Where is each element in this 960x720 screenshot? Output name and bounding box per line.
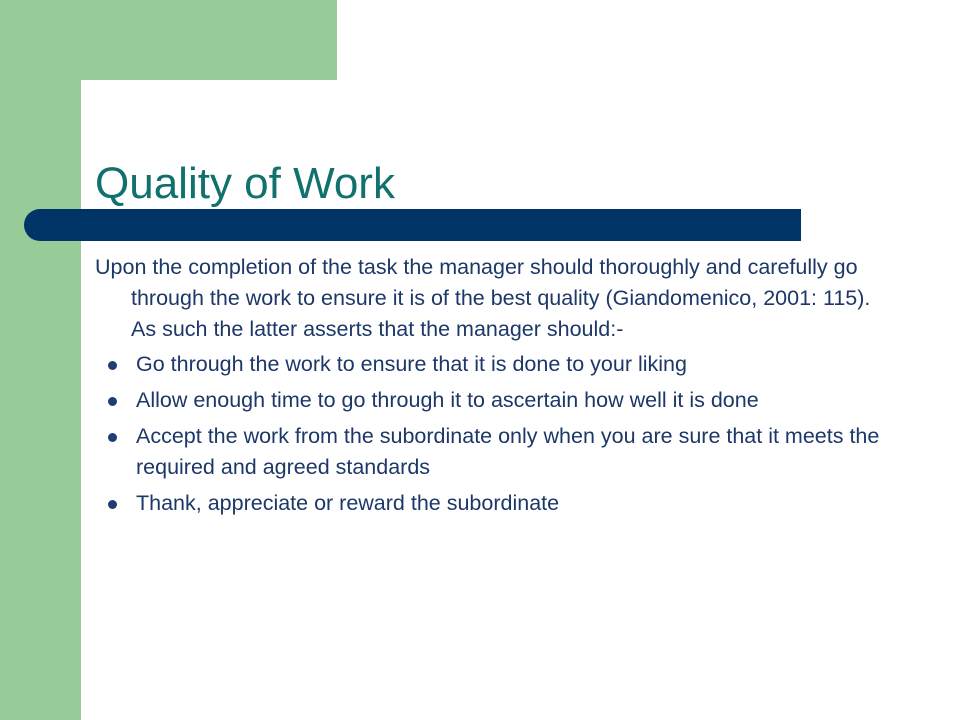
list-item-label: Thank, appreciate or reward the subordin… — [136, 488, 885, 519]
bullet-dot-icon — [108, 433, 117, 442]
lead-paragraph: Upon the completion of the task the mana… — [95, 252, 885, 345]
bullet-list: Go through the work to ensure that it is… — [95, 349, 885, 519]
list-item: Accept the work from the subordinate onl… — [95, 421, 885, 483]
bullet-dot-icon — [108, 361, 117, 370]
list-item-label: Allow enough time to go through it to as… — [136, 385, 885, 416]
bullet-dot-icon — [108, 500, 117, 509]
navy-accent-bar-decoration — [24, 209, 801, 241]
list-item: Allow enough time to go through it to as… — [95, 385, 885, 416]
page-title: Quality of Work — [95, 157, 855, 211]
bullet-dot-icon — [108, 397, 117, 406]
list-item: Go through the work to ensure that it is… — [95, 349, 885, 380]
list-item-label: Go through the work to ensure that it is… — [136, 349, 885, 380]
presentation-slide: Quality of Work Upon the completion of t… — [0, 0, 960, 720]
slide-body: Upon the completion of the task the mana… — [95, 252, 885, 524]
list-item: Thank, appreciate or reward the subordin… — [95, 488, 885, 519]
list-item-label: Accept the work from the subordinate onl… — [136, 421, 885, 483]
green-left-strip-decoration — [0, 0, 81, 720]
